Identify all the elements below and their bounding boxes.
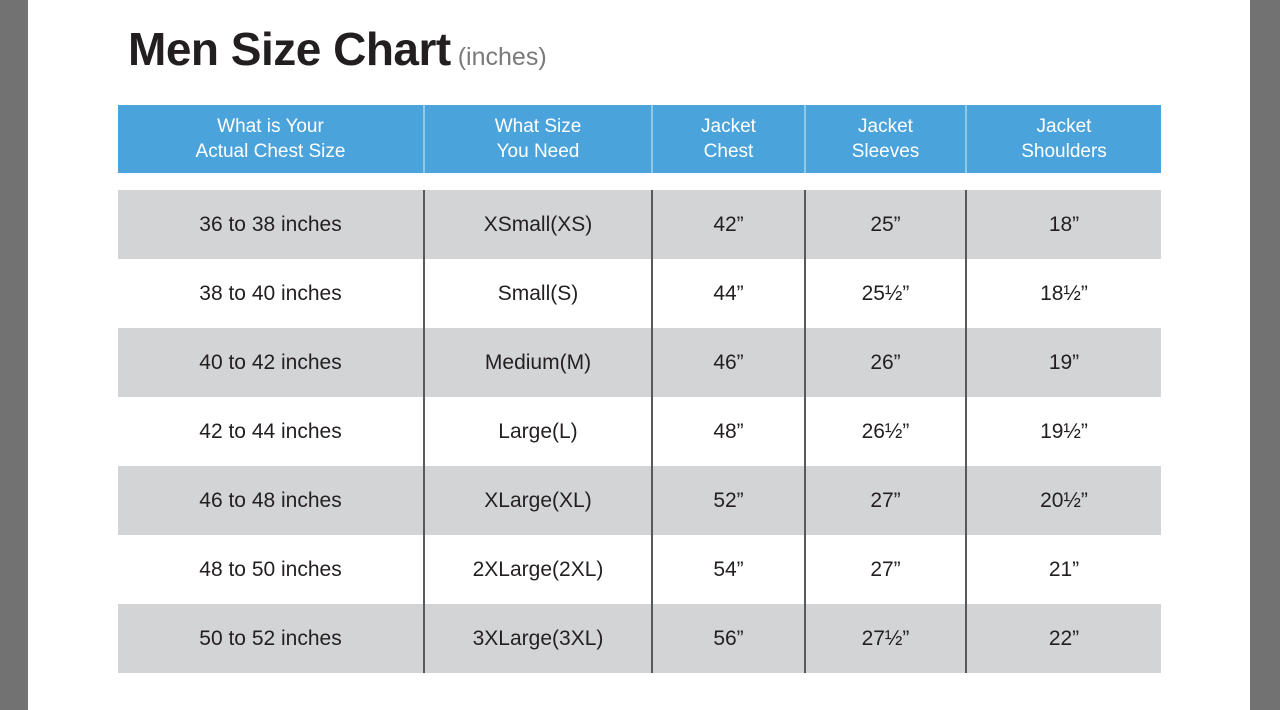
cell-chest-range: 38 to 40 inches [118, 259, 425, 328]
cell-jacket-chest: 52” [653, 466, 806, 535]
cell-size: 2XLarge(2XL) [425, 535, 653, 604]
page-title-unit: (inches) [458, 43, 547, 71]
table-row: 40 to 42 inches Medium(M) 46” 26” 19” [118, 328, 1161, 397]
cell-chest-range: 48 to 50 inches [118, 535, 425, 604]
cell-chest-range: 42 to 44 inches [118, 397, 425, 466]
cell-jacket-shoulders: 19” [967, 328, 1161, 397]
table-row: 46 to 48 inches XLarge(XL) 52” 27” 20½” [118, 466, 1161, 535]
column-header-line1: What is Your [217, 114, 324, 139]
size-chart-table: What is Your Actual Chest Size What Size… [118, 105, 1161, 673]
cell-jacket-sleeves: 25½” [806, 259, 967, 328]
cell-jacket-sleeves: 27½” [806, 604, 967, 673]
column-header-line1: Jacket [701, 114, 756, 139]
column-header-jacket-sleeves: Jacket Sleeves [806, 105, 967, 173]
cell-jacket-chest: 56” [653, 604, 806, 673]
cell-jacket-sleeves: 25” [806, 190, 967, 259]
column-header-line2: Shoulders [1021, 139, 1107, 164]
cell-size: Large(L) [425, 397, 653, 466]
cell-jacket-sleeves: 26” [806, 328, 967, 397]
cell-jacket-sleeves: 26½” [806, 397, 967, 466]
column-header-jacket-shoulders: Jacket Shoulders [967, 105, 1161, 173]
column-header-size-you-need: What Size You Need [425, 105, 653, 173]
cell-chest-range: 46 to 48 inches [118, 466, 425, 535]
column-header-line2: Sleeves [852, 139, 920, 164]
table-row: 48 to 50 inches 2XLarge(2XL) 54” 27” 21” [118, 535, 1161, 604]
cell-jacket-sleeves: 27” [806, 466, 967, 535]
cell-jacket-shoulders: 21” [967, 535, 1161, 604]
cell-jacket-chest: 54” [653, 535, 806, 604]
column-header-line1: Jacket [858, 114, 913, 139]
cell-size: XSmall(XS) [425, 190, 653, 259]
cell-jacket-sleeves: 27” [806, 535, 967, 604]
cell-jacket-chest: 42” [653, 190, 806, 259]
cell-jacket-shoulders: 18” [967, 190, 1161, 259]
cell-size: XLarge(XL) [425, 466, 653, 535]
table-row: 50 to 52 inches 3XLarge(3XL) 56” 27½” 22… [118, 604, 1161, 673]
table-body: 36 to 38 inches XSmall(XS) 42” 25” 18” 3… [118, 190, 1161, 673]
cell-size: Medium(M) [425, 328, 653, 397]
cell-jacket-shoulders: 22” [967, 604, 1161, 673]
cell-size: 3XLarge(3XL) [425, 604, 653, 673]
column-header-line1: Jacket [1037, 114, 1092, 139]
table-row: 42 to 44 inches Large(L) 48” 26½” 19½” [118, 397, 1161, 466]
cell-jacket-chest: 48” [653, 397, 806, 466]
table-header-row: What is Your Actual Chest Size What Size… [118, 105, 1161, 173]
size-chart-page: Men Size Chart(inches) What is Your Actu… [28, 0, 1250, 710]
cell-chest-range: 40 to 42 inches [118, 328, 425, 397]
column-header-actual-chest-size: What is Your Actual Chest Size [118, 105, 425, 173]
page-title-main: Men Size Chart [128, 23, 451, 75]
column-header-line1: What Size [495, 114, 582, 139]
cell-size: Small(S) [425, 259, 653, 328]
cell-jacket-shoulders: 20½” [967, 466, 1161, 535]
letterbox-right [1250, 0, 1280, 710]
column-header-line2: Actual Chest Size [196, 139, 346, 164]
letterbox-left [0, 0, 28, 710]
cell-jacket-chest: 44” [653, 259, 806, 328]
column-header-line2: You Need [497, 139, 580, 164]
column-header-line2: Chest [704, 139, 754, 164]
cell-jacket-shoulders: 19½” [967, 397, 1161, 466]
column-header-jacket-chest: Jacket Chest [653, 105, 806, 173]
cell-chest-range: 50 to 52 inches [118, 604, 425, 673]
cell-chest-range: 36 to 38 inches [118, 190, 425, 259]
page-title: Men Size Chart(inches) [128, 22, 547, 76]
cell-jacket-shoulders: 18½” [967, 259, 1161, 328]
table-row: 36 to 38 inches XSmall(XS) 42” 25” 18” [118, 190, 1161, 259]
table-row: 38 to 40 inches Small(S) 44” 25½” 18½” [118, 259, 1161, 328]
cell-jacket-chest: 46” [653, 328, 806, 397]
